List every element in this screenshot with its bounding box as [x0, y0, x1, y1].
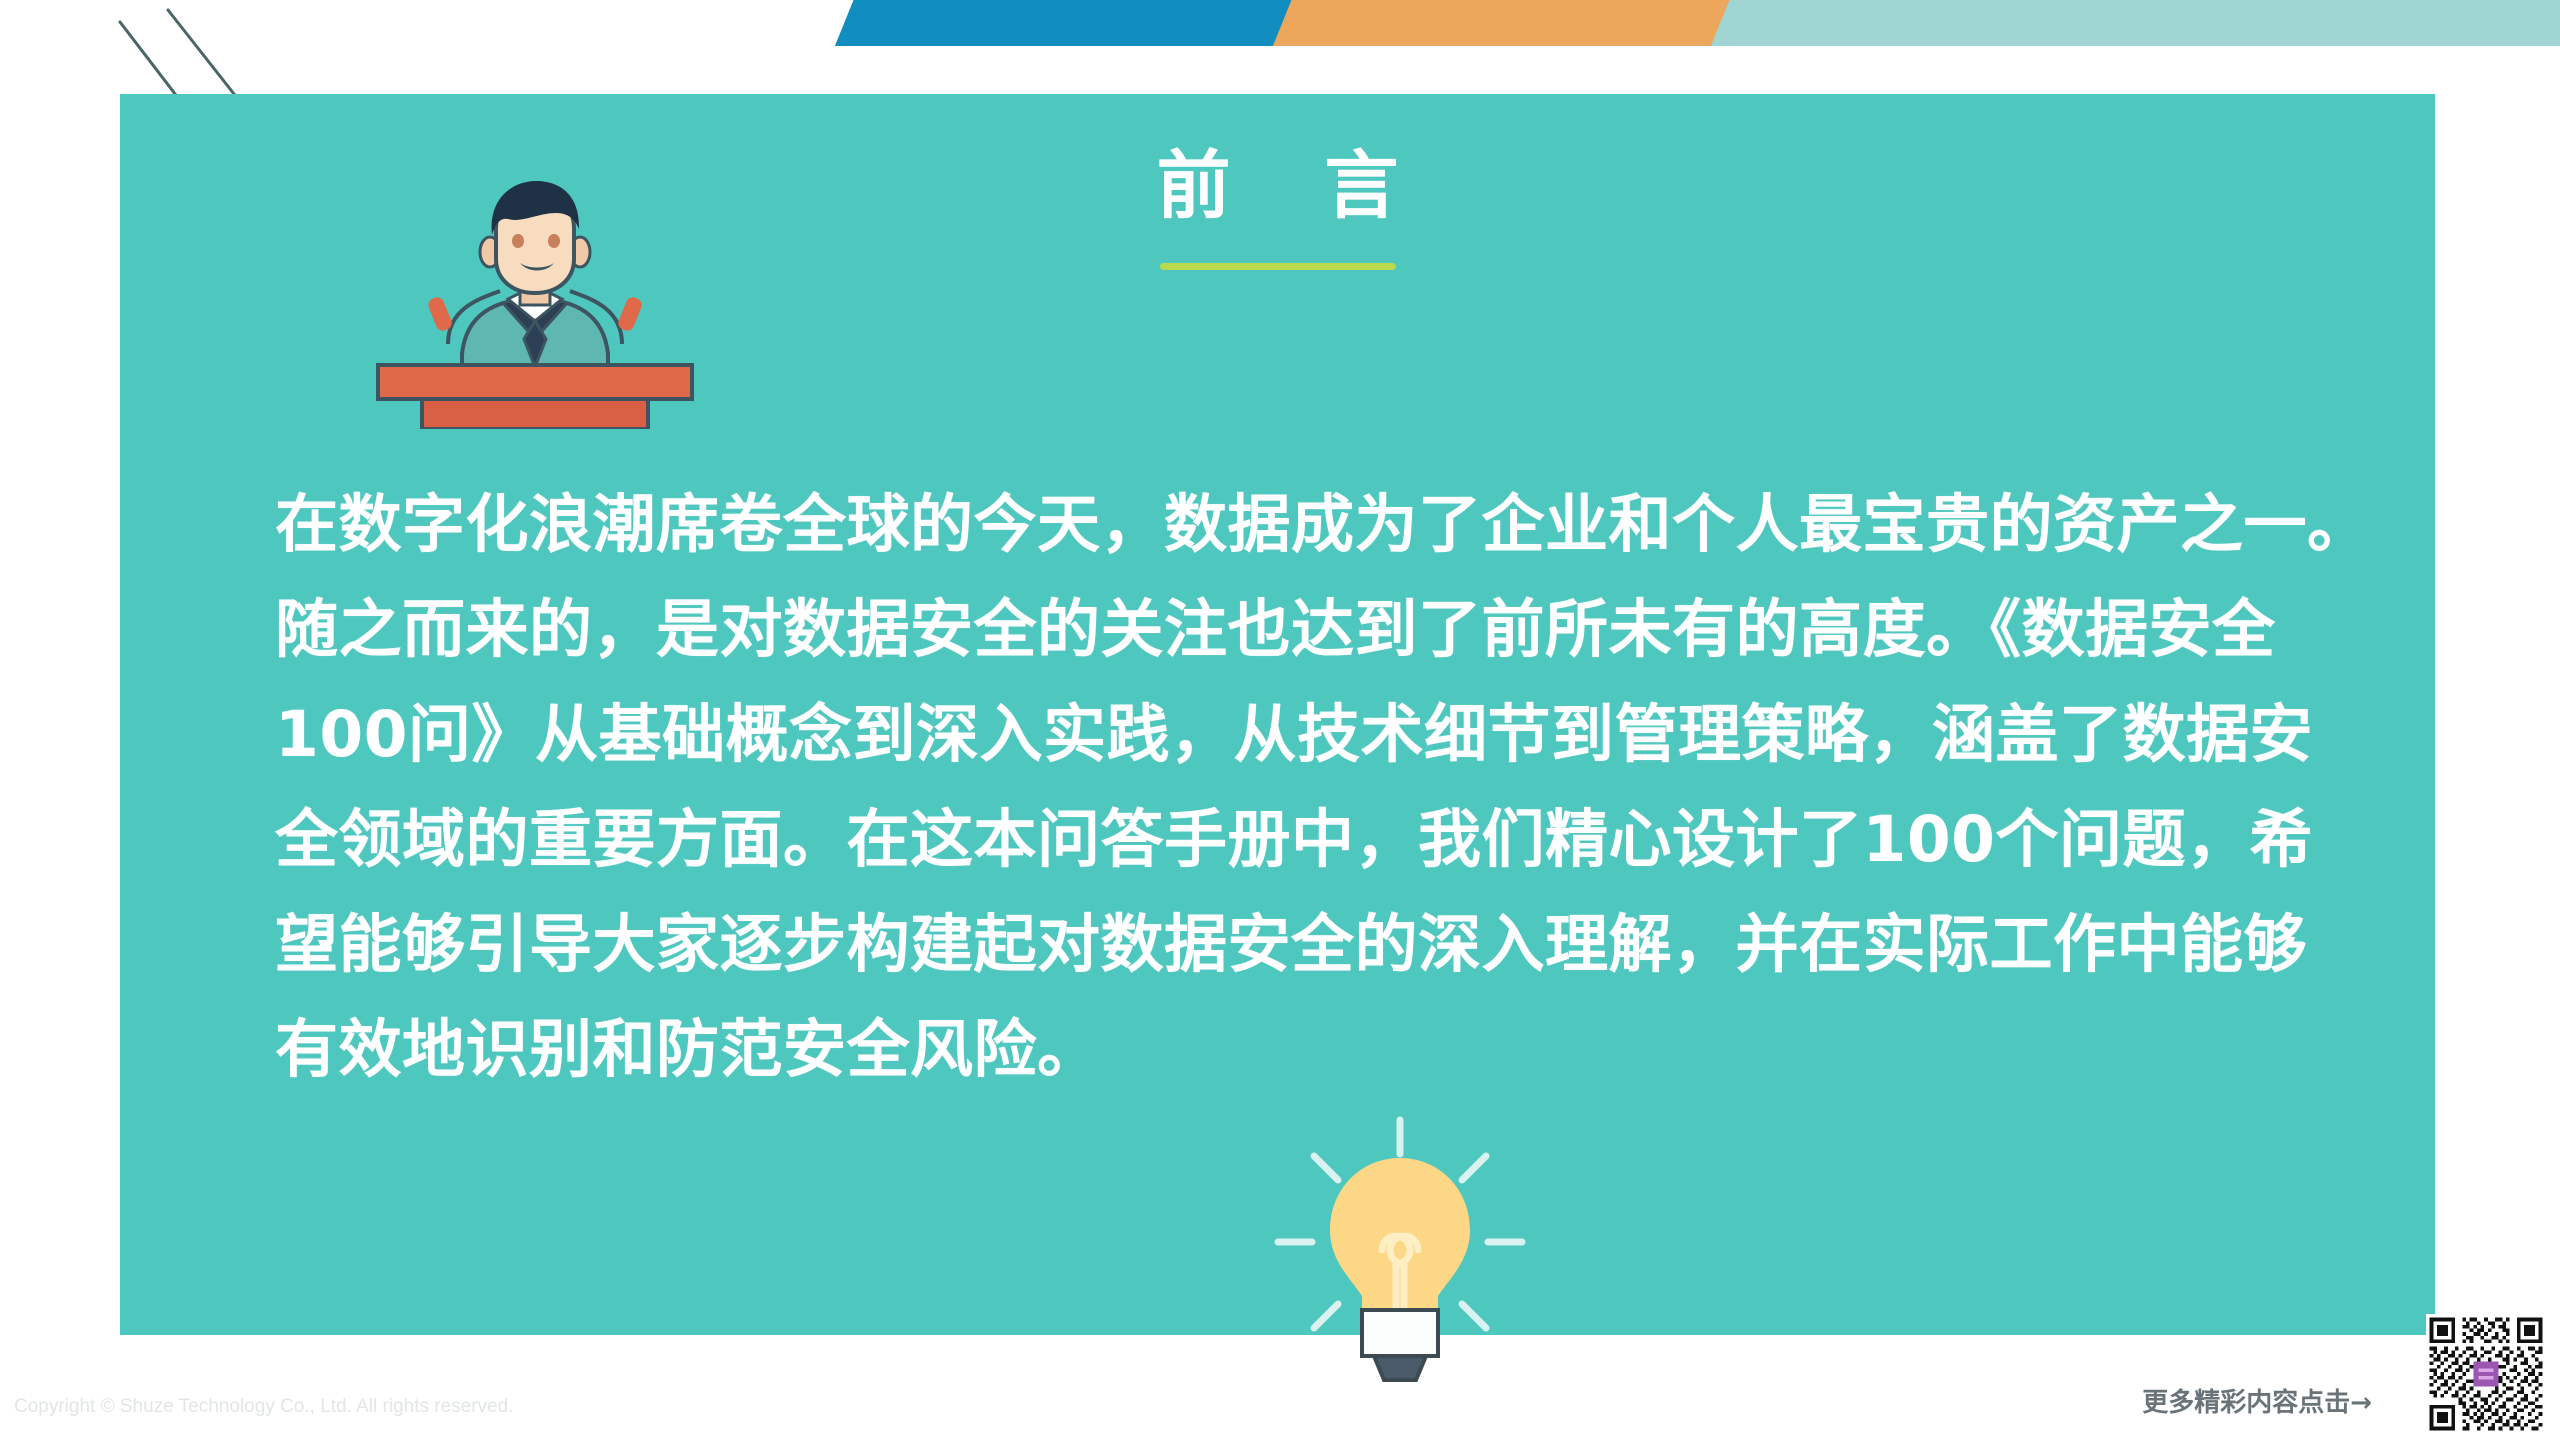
page-title: 前 言	[120, 149, 2435, 223]
slide-canvas: 前 言 在数字化浪潮席卷全球的今天，数据成为了企业和个人最宝贵的资产之一。 随之…	[0, 0, 2560, 1441]
paragraph-line: 在数字化浪潮席卷全球的今天，数据成为了企业和个人最宝贵的资产之一。	[275, 472, 2355, 577]
content-card: 前 言 在数字化浪潮席卷全球的今天，数据成为了企业和个人最宝贵的资产之一。 随之…	[120, 94, 2435, 1335]
top-ribbon-decoration	[0, 0, 2560, 46]
title-underline-rule	[1160, 263, 1396, 270]
paragraph-line: 随之而来的，是对数据安全的关注也达到了前所未有的高度。《数据安全	[275, 577, 2355, 682]
paragraph-line: 100问》从基础概念到深入实践，从技术细节到管理策略，涵盖了数据安	[275, 682, 2355, 787]
ribbon-orange	[1273, 0, 1733, 46]
ribbon-blue	[835, 0, 1295, 46]
lightbulb-icon	[1270, 1114, 1530, 1384]
qr-code[interactable]	[2426, 1314, 2546, 1434]
title-block: 前 言	[120, 149, 2435, 270]
ribbon-teal	[1711, 0, 2560, 46]
more-content-cta[interactable]: 更多精彩内容点击→	[2142, 1382, 2372, 1419]
card-header: 前 言	[120, 94, 2435, 394]
paragraph-line: 全领域的重要方面。在这本问答手册中，我们精心设计了100个问题，希	[275, 787, 2355, 892]
paragraph-line: 望能够引导大家逐步构建起对数据安全的深入理解，并在实际工作中能够	[275, 892, 2355, 997]
preface-paragraph: 在数字化浪潮席卷全球的今天，数据成为了企业和个人最宝贵的资产之一。 随之而来的，…	[275, 472, 2355, 1102]
copyright-text: Copyright © Shuze Technology Co., Ltd. A…	[14, 1396, 513, 1418]
paragraph-line: 有效地识别和防范安全风险。	[275, 997, 2355, 1102]
